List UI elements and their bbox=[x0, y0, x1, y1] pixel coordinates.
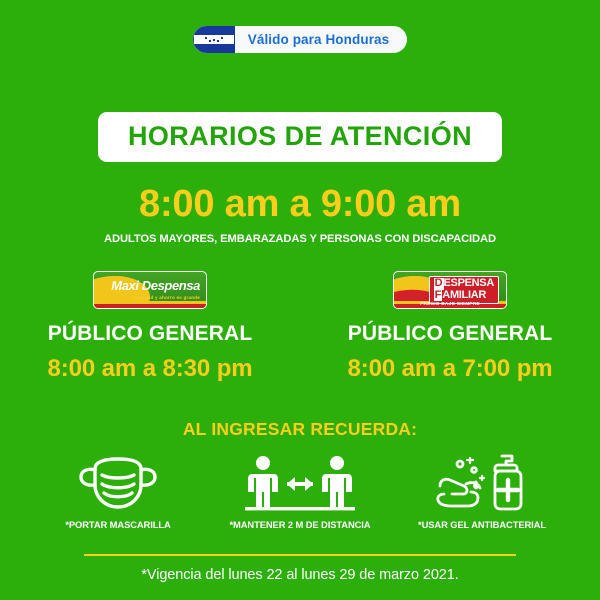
face-mask-icon bbox=[75, 454, 161, 512]
page-title: HORARIOS DE ATENCIÓN bbox=[128, 123, 472, 150]
store-hours-value: 8:00 am a 8:30 pm bbox=[47, 355, 252, 383]
validity-note: *Vigencia del lunes 22 al lunes 29 de ma… bbox=[0, 567, 600, 583]
hand-sanitizer-icon bbox=[430, 454, 534, 512]
reminder-label: *USAR GEL ANTIBACTERIAL bbox=[418, 519, 546, 530]
logo-stripe-red bbox=[94, 304, 206, 308]
maxi-despensa-tagline: Variedad y ahorro es grande bbox=[111, 295, 200, 300]
despensa-familiar-line-1: D ESPENSA bbox=[434, 278, 494, 290]
despensa-familiar-tagline: PRECIO BAJO SIEMPRE bbox=[394, 302, 506, 307]
store-audience-label: PÚBLICO GENERAL bbox=[48, 322, 253, 346]
logo-stripe-yellow bbox=[94, 301, 206, 304]
validity-banner-label: Válido para Honduras bbox=[235, 26, 390, 53]
despensa-familiar-logo-plate: D ESPENSA F AMILIAR bbox=[429, 276, 499, 304]
store-audience-label: PÚBLICO GENERAL bbox=[348, 322, 553, 346]
flag-star bbox=[221, 37, 223, 39]
reminders-row: *PORTAR MASCARILLA bbox=[0, 454, 600, 530]
flag-star bbox=[209, 40, 211, 42]
despensa-familiar-word-despensa: ESPENSA bbox=[444, 278, 494, 290]
flag-star bbox=[217, 40, 219, 42]
despensa-familiar-cap-d: D bbox=[434, 278, 444, 290]
reminder-item-distance: *MANTENER 2 M DE DISTANCIA bbox=[220, 454, 380, 530]
priority-hours-value: 8:00 am a 9:00 am bbox=[139, 185, 461, 223]
flag-stripe-bottom bbox=[194, 44, 234, 52]
despensa-familiar-line-2: F AMILIAR bbox=[434, 290, 494, 302]
priority-hours-note: ADULTOS MAYORES, EMBARAZADAS Y PERSONAS … bbox=[104, 233, 496, 245]
maxi-despensa-logo: Maxi Despensa Variedad y ahorro es grand… bbox=[93, 271, 207, 309]
validity-banner: Válido para Honduras bbox=[193, 26, 408, 53]
flag-stripe-top bbox=[194, 27, 234, 35]
store-maxi-despensa: Maxi Despensa Variedad y ahorro es grand… bbox=[0, 271, 300, 383]
despensa-familiar-logo: D ESPENSA F AMILIAR PRECIO BAJO SIEMPRE bbox=[393, 271, 507, 309]
page-title-plate: HORARIOS DE ATENCIÓN bbox=[98, 112, 502, 162]
despensa-familiar-cap-f: F bbox=[434, 290, 443, 302]
flag-star bbox=[205, 37, 207, 39]
store-hours-value: 8:00 am a 7:00 pm bbox=[347, 355, 552, 383]
reminders-title: AL INGRESAR RECUERDA: bbox=[183, 419, 417, 440]
reminder-label: *PORTAR MASCARILLA bbox=[65, 519, 170, 530]
store-despensa-familiar: D ESPENSA F AMILIAR PRECIO BAJO SIEMPRE … bbox=[300, 271, 600, 383]
honduras-flag-icon bbox=[193, 26, 235, 53]
promo-poster: Válido para Honduras HORARIOS DE ATENCIÓ… bbox=[0, 0, 600, 600]
reminder-item-sanitizer: *USAR GEL ANTIBACTERIAL bbox=[402, 454, 562, 530]
stores-row: Maxi Despensa Variedad y ahorro es grand… bbox=[0, 271, 600, 383]
flag-stars bbox=[194, 35, 234, 44]
reminder-item-mask: *PORTAR MASCARILLA bbox=[38, 454, 198, 530]
footer-divider bbox=[84, 554, 516, 556]
maxi-despensa-logo-text: Maxi Despensa Variedad y ahorro es grand… bbox=[111, 279, 200, 300]
reminder-label: *MANTENER 2 M DE DISTANCIA bbox=[230, 519, 371, 530]
maxi-despensa-brand: Maxi Despensa bbox=[111, 279, 200, 292]
despensa-familiar-word-familiar: AMILIAR bbox=[442, 290, 486, 302]
flag-star bbox=[213, 39, 215, 41]
social-distance-icon bbox=[237, 454, 363, 512]
